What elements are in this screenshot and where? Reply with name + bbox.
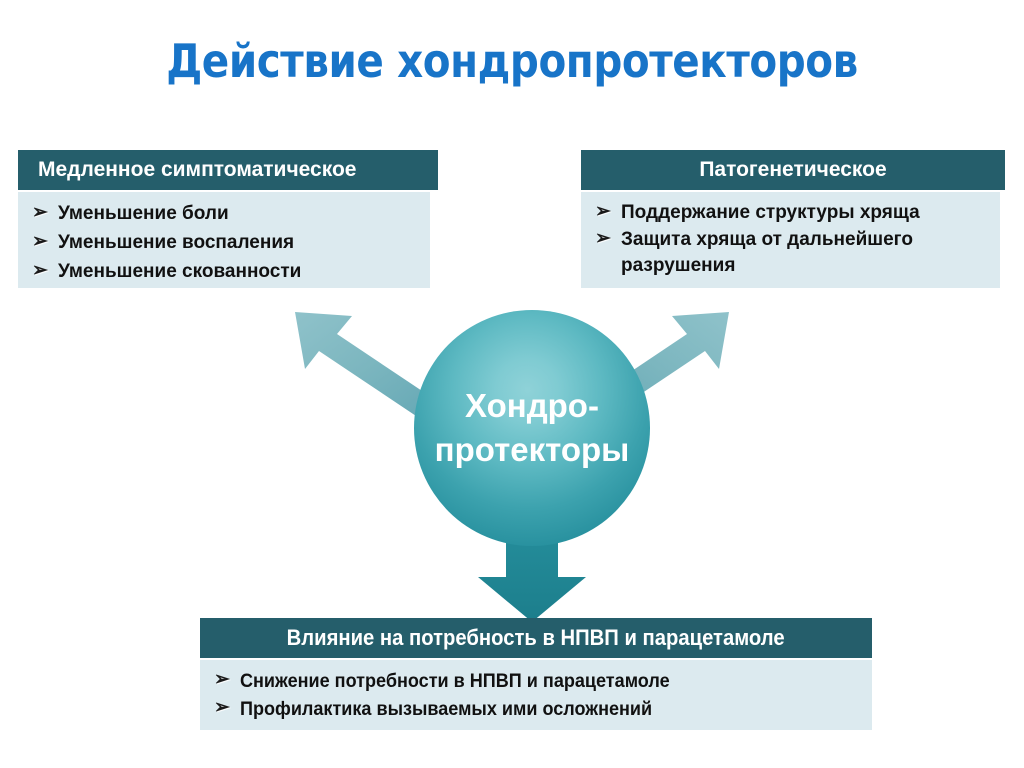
left-card-body: ➢ Уменьшение боли ➢ Уменьшение воспалени… xyxy=(18,192,430,288)
arrowhead-bullet-icon: ➢ xyxy=(214,668,240,689)
arrowhead-bullet-icon: ➢ xyxy=(214,696,240,717)
arrowhead-bullet-icon: ➢ xyxy=(32,200,58,222)
list-item-label: Уменьшение боли xyxy=(58,200,430,228)
list-item: ➢ Уменьшение воспаления xyxy=(32,229,430,257)
list-item-label: Поддержание структуры хряща xyxy=(621,200,1000,226)
center-node-label: Хондро- протекторы xyxy=(435,384,630,472)
center-node-chondroprotectors[interactable]: Хондро- протекторы xyxy=(414,310,650,546)
list-item: ➢ Профилактика вызываемых ими осложнений xyxy=(214,696,872,723)
list-item-label: Профилактика вызываемых ими осложнений xyxy=(240,696,840,723)
arrowhead-bullet-icon: ➢ xyxy=(32,229,58,251)
arrowhead-bullet-icon: ➢ xyxy=(595,200,621,221)
bottom-card-header: Влияние на потребность в НПВП и парацета… xyxy=(200,618,872,658)
page-title: Действие хондропротекторов xyxy=(61,33,962,89)
list-item: ➢ Уменьшение боли xyxy=(32,200,430,228)
list-item-label: Уменьшение воспаления xyxy=(58,229,430,257)
arrowhead-bullet-icon: ➢ xyxy=(32,258,58,280)
bottom-card-body: ➢ Снижение потребности в НПВП и парацета… xyxy=(200,660,872,730)
left-card-header-text: Медленное симптоматическое xyxy=(38,158,356,182)
bottom-card-header-text: Влияние на потребность в НПВП и парацета… xyxy=(287,625,785,651)
list-item: ➢ Уменьшение скованности xyxy=(32,258,430,286)
list-item: ➢ Защита хряща от дальнейшего разрушения xyxy=(595,227,1000,279)
left-card-header: Медленное симптоматическое xyxy=(18,150,438,190)
list-item: ➢ Снижение потребности в НПВП и парацета… xyxy=(214,668,872,695)
list-item: ➢ Поддержание структуры хряща xyxy=(595,200,1000,226)
list-item-label: Снижение потребности в НПВП и парацетамо… xyxy=(240,668,840,695)
list-item-label: Уменьшение скованности xyxy=(58,258,430,286)
right-card-body: ➢ Поддержание структуры хряща ➢ Защита х… xyxy=(581,192,1000,288)
right-card-header: Патогенетическое xyxy=(581,150,1005,190)
slide-canvas: Действие хондропротекторов xyxy=(0,0,1024,768)
right-card-header-text: Патогенетическое xyxy=(699,158,886,182)
arrowhead-bullet-icon: ➢ xyxy=(595,227,621,248)
list-item-label: Защита хряща от дальнейшего разрушения xyxy=(621,227,1000,279)
